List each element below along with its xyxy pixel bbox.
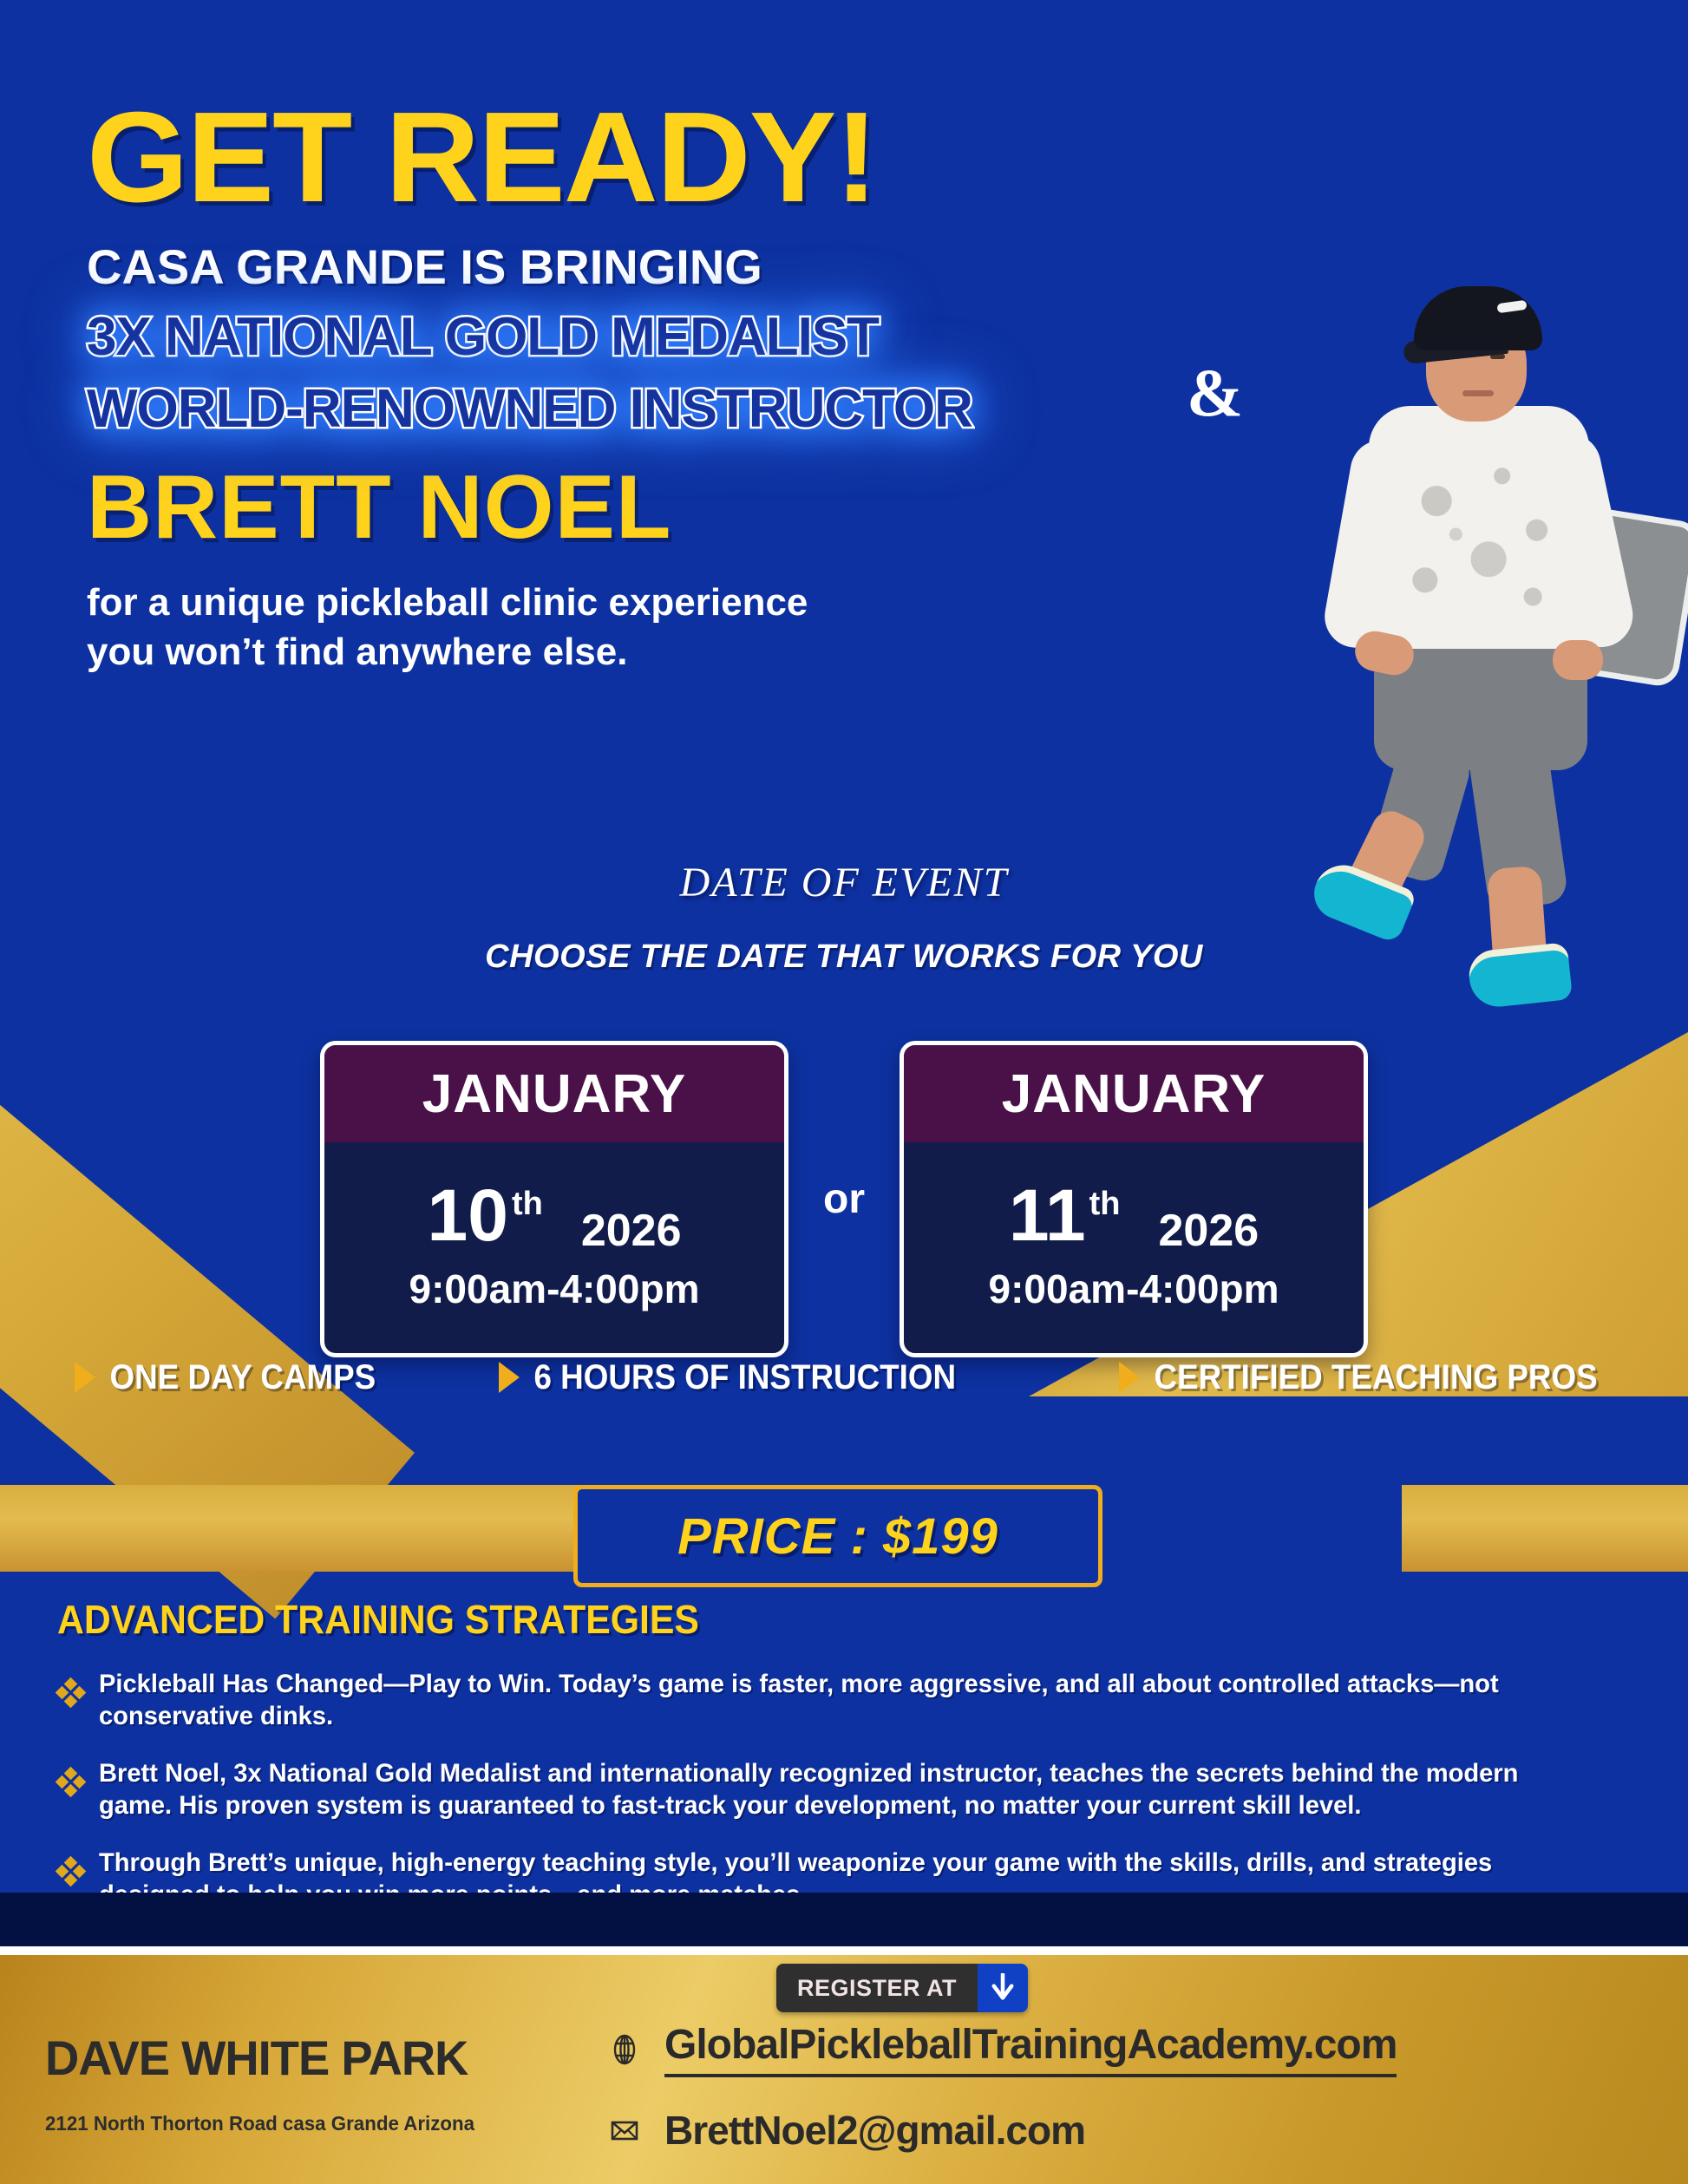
strategies-heading: ADVANCED TRAINING STRATEGIES [57,1596,1534,1643]
date-card-group: JANUARY 10 th 2026 9:00am-4:00pm or JANU… [0,1041,1688,1357]
diamond-cluster-bullet-icon [57,1858,83,1884]
register-at-label: REGISTER AT [776,1964,978,2012]
date-card-day: 10 [428,1179,508,1252]
feature-label: ONE DAY CAMPS [109,1358,376,1397]
date-card-january-10[interactable]: JANUARY 10 th 2026 9:00am-4:00pm [320,1041,788,1357]
hero-glow-line-1: 3X NATIONAL GOLD MEDALIST [87,307,972,367]
feature-one-day-camps: ONE DAY CAMPS [75,1358,376,1397]
strategy-bullet-text: Brett Noel, 3x National Gold Medalist an… [99,1758,1599,1821]
venue-address: 2121 North Thorton Road casa Grande Ariz… [45,2112,474,2135]
date-separator: or [823,1175,865,1223]
price-label: PRICE : $199 [677,1507,998,1566]
advanced-training-strategies-section: ADVANCED TRAINING STRATEGIES Pickleball … [57,1596,1645,1912]
date-card-month: JANUARY [904,1045,1364,1142]
date-of-event-heading: DATE OF EVENT [0,859,1688,906]
date-card-january-11[interactable]: JANUARY 11 th 2026 9:00am-4:00pm [900,1041,1368,1357]
date-card-year: 2026 [1159,1205,1259,1257]
website-url[interactable]: GlobalPickleballTrainingAcademy.com [664,2021,1397,2077]
venue-name: DAVE WHITE PARK [45,2030,474,2086]
date-card-day-suffix: th [1089,1186,1121,1223]
arrow-right-icon [499,1362,520,1393]
date-card-body: 10 th 2026 9:00am-4:00pm [324,1142,784,1349]
feature-label: 6 HOURS OF INSTRUCTION [533,1358,956,1397]
arrow-right-icon [75,1362,95,1393]
choose-date-label: CHOOSE THE DATE THAT WORKS FOR YOU [0,938,1688,976]
strategy-bullet-text: Pickleball Has Changed—Play to Win. Toda… [99,1669,1599,1732]
arrow-down-icon [978,1964,1028,2012]
diamond-cluster-bullet-icon [57,1769,83,1795]
hero-text-block: GET READY! CASA GRANDE IS BRINGING 3X NA… [87,97,972,677]
strategy-bullet: Brett Noel, 3x National Gold Medalist an… [57,1758,1645,1821]
date-card-year: 2026 [581,1205,682,1257]
diamond-cluster-bullet-icon [57,1679,83,1705]
website-row[interactable]: GlobalPickleballTrainingAcademy.com [607,2021,1397,2077]
contact-block: GlobalPickleballTrainingAcademy.com Bret… [607,2021,1397,2154]
brett-noel-photo [1292,260,1674,1023]
hero-tagline-line-1: for a unique pickleball clinic experienc… [87,579,972,627]
date-card-time: 9:00am-4:00pm [904,1265,1364,1312]
globe-icon [607,2032,642,2067]
register-at-badge[interactable]: REGISTER AT [776,1964,1028,2012]
flyer-poster: GET READY! CASA GRANDE IS BRINGING 3X NA… [0,0,1688,2184]
ampersand-glyph: & [1187,354,1243,432]
athlete-mouth [1462,390,1494,396]
envelope-icon [607,2113,642,2148]
date-card-day: 11 [1009,1179,1086,1252]
athlete-hand-right [1553,640,1603,680]
date-card-time: 9:00am-4:00pm [324,1265,784,1312]
email-row[interactable]: BrettNoel2@gmail.com [607,2107,1397,2154]
athlete-cap [1414,286,1542,350]
feature-hours-of-instruction: 6 HOURS OF INSTRUCTION [499,1358,956,1397]
date-card-day-row: 11 th 2026 [904,1179,1364,1252]
date-card-day-suffix: th [512,1186,543,1223]
date-card-day-row: 10 th 2026 [324,1179,784,1252]
feature-certified-teaching-pros: CERTIFIED TEACHING PROS [1119,1358,1598,1397]
venue-block: DAVE WHITE PARK 2121 North Thorton Road … [45,2030,487,2135]
email-address[interactable]: BrettNoel2@gmail.com [664,2107,1085,2154]
page-title: GET READY! [87,97,990,219]
hero-subhead: CASA GRANDE IS BRINGING [87,239,972,295]
date-card-body: 11 th 2026 9:00am-4:00pm [904,1142,1364,1349]
strategy-bullet: Pickleball Has Changed—Play to Win. Toda… [57,1669,1645,1732]
hero-tagline-line-2: you won’t find anywhere else. [87,628,972,677]
arrow-right-icon [1119,1362,1140,1393]
instructor-name: BRETT NOEL [87,456,972,559]
gold-bar-right [1402,1485,1688,1572]
hero-glow-line-2: WORLD-RENOWNED INSTRUCTOR [87,379,972,439]
athlete-shirt-print [1383,430,1575,638]
date-card-month: JANUARY [324,1045,784,1142]
price-badge: PRICE : $199 [573,1485,1102,1587]
navy-divider-strip [0,1893,1688,1946]
feature-label: CERTIFIED TEACHING PROS [1154,1358,1597,1397]
white-divider-line [0,1946,1688,1955]
